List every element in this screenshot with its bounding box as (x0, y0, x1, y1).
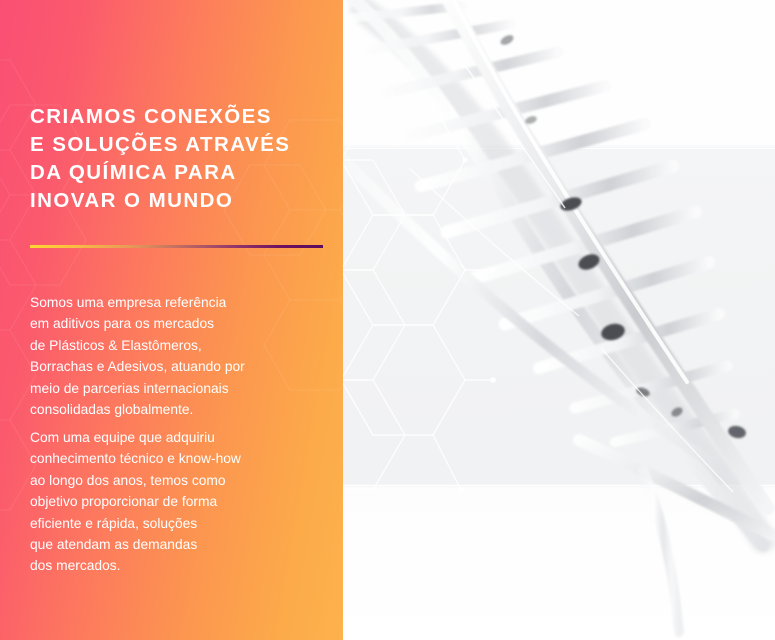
hexagon-network-icon (343, 0, 775, 640)
dna-photo (343, 0, 775, 640)
page-title: Criamos Conexões E Soluções Através Da Q… (30, 103, 330, 215)
gradient-divider (30, 245, 323, 248)
copy-panel: Criamos Conexões E Soluções Através Da Q… (0, 0, 343, 640)
hexagon-node-dots (431, 103, 496, 493)
copy-panel-content: Criamos Conexões E Soluções Através Da Q… (30, 0, 330, 640)
intro-paragraph-2: Com uma equipe que adquiriu conhecimento… (30, 427, 330, 577)
hero-section: Criamos Conexões E Soluções Através Da Q… (0, 0, 775, 640)
intro-paragraph-1: Somos uma empresa referência em aditivos… (30, 292, 330, 420)
